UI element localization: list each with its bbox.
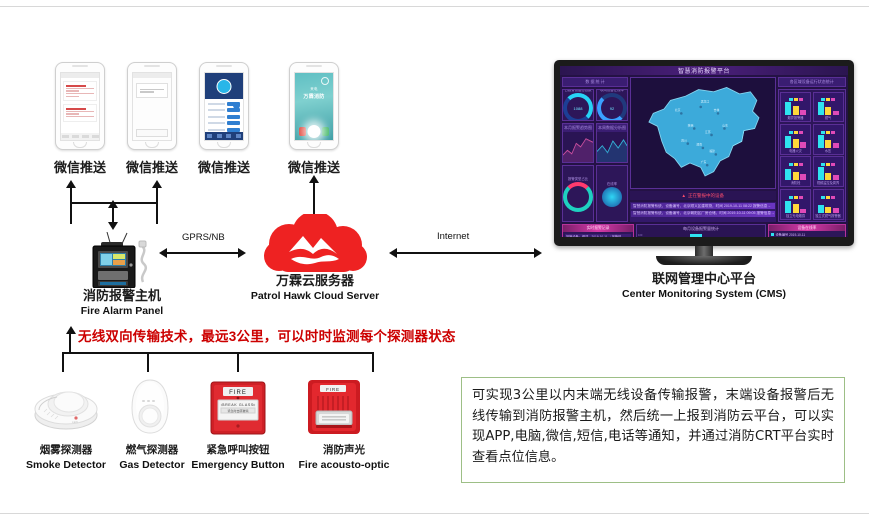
connector-banner-vertical: [69, 334, 71, 352]
region-cell: 视频监控及周界: [813, 156, 844, 187]
device-bracket-drop-4: [372, 352, 374, 372]
arrowhead-left-internet: [389, 248, 397, 258]
cms-name-en: Center Monitoring System (CMS): [604, 288, 804, 300]
gauge-card-1: 日报警设备总台数 1088: [562, 89, 594, 121]
cms-name-cn: 联网管理中心平台: [604, 268, 804, 287]
gauge2-label: 联网设备在线率: [597, 89, 627, 92]
top-divider: [0, 6, 869, 7]
alarm-message-list: 智慧消防报警系统，设备编号，北京顺义区建筑物，时间 2019-10-11 08:…: [630, 202, 776, 222]
svg-text:北京: 北京: [675, 109, 681, 113]
dashboard-title: 智慧消防报警平台: [560, 66, 848, 75]
phone-mockup-1: [55, 62, 105, 150]
spark2-label: 本周数据分析图: [597, 124, 627, 132]
svg-text:紧急时击碎玻璃: 紧急时击碎玻璃: [227, 408, 248, 413]
donut-ring: [563, 182, 593, 212]
phone-home-button: [73, 142, 87, 148]
svg-text:陕西: 陕西: [688, 124, 694, 128]
map-alarm-banner: ▲ 正在警报中的设备: [630, 191, 776, 200]
spark1-label: 本月报警趋势图: [563, 124, 593, 132]
spark-card-1: 本月报警趋势图: [562, 123, 594, 163]
bottom-right-header: 设备在线率: [769, 225, 845, 231]
description-box: 可实现3公里以内末端无线设备传输报警，末端设备报警后无线传输到消防报警主机，然后…: [461, 377, 845, 483]
device-name-en: Fire acousto-optic: [288, 459, 400, 471]
fire-alarm-panel-graphic: [87, 232, 155, 293]
slide-to-answer-handle: [308, 125, 321, 138]
bottom-left-header: 实时报警记录: [563, 225, 633, 232]
arrowhead-to-phone2: [152, 180, 162, 188]
svg-text:广东: 广东: [701, 160, 707, 164]
svg-text:黑龙江: 黑龙江: [701, 100, 710, 104]
device-row: 设备编号 2019-10-11: [771, 232, 843, 236]
svg-text:湖南: 湖南: [696, 143, 702, 147]
region-cell: 独立式燃气报警器: [813, 189, 844, 220]
fire-sounder-caption: 消防声光 Fire acousto-optic: [288, 442, 400, 471]
arrowhead-up-panel: [108, 200, 118, 208]
arrowhead-banner-to-panel: [66, 326, 76, 334]
panel-name-cn: 消防报警主机: [52, 285, 192, 304]
svg-text:福建: 福建: [709, 150, 715, 154]
device-bracket: [62, 352, 374, 354]
circle-label: 在线率: [602, 181, 622, 186]
fire-label: FIRE: [229, 390, 247, 396]
phone-screen-incoming-call: 来电 万霖消防: [294, 72, 334, 141]
link-label-gprs: GPRS/NB: [182, 232, 225, 243]
region-cell: 电器火灾: [780, 124, 811, 155]
alarm-row: 报警设备：烟感，2019-10-11 ｜报警型: [565, 234, 631, 237]
region-cell: 燃气: [813, 92, 844, 123]
region-cell: 独立光电烟感: [780, 189, 811, 220]
right-panel-header: 各区域设备运行状态统计: [779, 78, 845, 86]
phone-mockup-4: 来电 万霖消防: [289, 62, 339, 150]
svg-text:FIRE: FIRE: [326, 387, 340, 392]
arrowhead-left-gprs: [159, 248, 167, 258]
wireless-banner-text: 无线双向传输技术，最远3公里，可以时时监测每个探测器状态: [78, 325, 456, 345]
monthly-bar-chart-panel: 每月设备报警量统计 100 80 60 40 20 0: [636, 224, 766, 237]
left-panel-header: 数 据 统 计: [563, 78, 627, 86]
bar: [690, 234, 702, 237]
monthly-bar-chart: 100 80 60 40 20 0: [637, 233, 765, 237]
connector-cloud-cms: [396, 252, 538, 254]
china-map-panel: 北京黑龙江 吉林陕西 江苏山东 湖南四川 福建广东: [630, 77, 776, 189]
phone-speaker: [144, 65, 160, 67]
arrowhead-right-internet: [534, 248, 542, 258]
svg-text:吉林: 吉林: [714, 109, 720, 113]
accept-call-button: [322, 127, 329, 136]
fire-sounder-graphic: FIRE: [306, 378, 362, 441]
svg-text:山东: 山东: [722, 124, 728, 128]
svg-text:LED: LED: [72, 420, 79, 424]
phone-screen-wechat-chat: [132, 72, 172, 141]
arrowhead-down-panel: [108, 222, 118, 230]
donut-card: 报警类型占比: [562, 165, 594, 222]
gauge1-ring: 1088: [563, 93, 593, 121]
phone-4-caption: 微信推送: [264, 157, 364, 176]
spark-card-2: 本周数据分析图: [596, 123, 628, 163]
link-label-internet: Internet: [437, 231, 469, 242]
connector-phone2-vertical: [156, 188, 158, 224]
gauge1-value: 1088: [574, 106, 583, 111]
cms-monitor: 智慧消防报警平台 数 据 统 计 日报警设备总台数 1088: [554, 60, 854, 246]
device-name-cn: 紧急呼叫按钮: [186, 442, 290, 457]
region-cell: 水压: [813, 124, 844, 155]
circle-card: 在线率: [596, 165, 628, 222]
phone-home-button: [307, 142, 321, 148]
device-online-panel: 设备在线率 设备编号 2019-10-11 设备编号 2019-10-11 设备…: [768, 224, 846, 237]
phone-speaker: [72, 65, 88, 67]
donut-label: 报警类型占比: [563, 176, 593, 181]
device-name-en: Emergency Button: [186, 459, 290, 471]
smoke-detector-caption: 烟雾探测器 Smoke Detector: [18, 442, 114, 471]
panel-name-en: Fire Alarm Panel: [52, 305, 192, 317]
phone-screen-app: [204, 72, 244, 141]
cloud-name-cn: 万霖云服务器: [240, 270, 390, 289]
realtime-alarm-panel: 实时报警记录 报警设备：烟感，2019-10-11 ｜报警型 报警设备：燃气，2…: [562, 224, 634, 237]
phone-mockup-3: [199, 62, 249, 150]
cloud-caption: 万霖云服务器 Patrol Hawk Cloud Server: [240, 270, 390, 302]
decline-call-button: [299, 127, 306, 136]
device-name-cn: 消防声光: [288, 442, 400, 457]
gauge2-value: 92: [610, 106, 614, 111]
alarm-message: 智慧消防报警系统，设备编号，北京朝阳区厂房仓储，时间 2019-10-11 09…: [631, 211, 775, 217]
chart-y-axis: 100 80 60 40 20 0: [638, 235, 644, 237]
phone-3-caption: 微信推送: [174, 157, 274, 176]
device-name-en: Smoke Detector: [18, 459, 114, 471]
gauge-card-2: 联网设备在线率 92: [596, 89, 628, 121]
smoke-detector-graphic: LED: [32, 382, 100, 437]
call-label: 来电: [310, 87, 318, 91]
arrowhead-right-gprs: [238, 248, 246, 258]
phone-speaker: [216, 65, 232, 67]
gauge2-ring: 92: [597, 93, 627, 121]
warning-icon: ▲: [682, 193, 686, 198]
device-bracket-drop-2: [147, 352, 149, 372]
phone-speaker: [306, 65, 322, 67]
description-text: 可实现3公里以内末端无线设备传输报警，末端设备报警后无线传输到消防报警主机，然后…: [472, 386, 834, 468]
svg-text:BREAK GLASS: BREAK GLASS: [222, 403, 254, 407]
svg-text:四川: 四川: [681, 139, 687, 143]
phone-screen-wechat-list: [60, 72, 100, 141]
alarm-message: 智慧消防报警系统，设备编号，北京顺义区建筑物，时间 2019-10-11 08:…: [631, 203, 775, 209]
arrowhead-up-phone4: [309, 175, 319, 183]
panel-caption: 消防报警主机 Fire Alarm Panel: [52, 285, 192, 317]
arrowhead-to-phone1: [66, 180, 76, 188]
region-cell: 消防栓: [780, 156, 811, 187]
gauge1-label: 日报警设备总台数: [563, 89, 593, 92]
gas-detector-graphic: [128, 378, 172, 441]
region-cell: 烟雾报警器: [780, 92, 811, 123]
cloud-name-en: Patrol Hawk Cloud Server: [240, 290, 390, 302]
circle-gauge: [602, 187, 622, 207]
bottom-chart-title: 每月设备报警量统计: [637, 225, 765, 233]
svg-text:江苏: 江苏: [705, 130, 711, 134]
call-number: 万霖消防: [295, 93, 333, 100]
monitor-stand: [656, 256, 752, 265]
connector-panel-cloud: [166, 252, 244, 254]
phone-home-button: [145, 142, 159, 148]
device-bracket-drop-3: [237, 352, 239, 372]
phone-home-button: [217, 142, 231, 148]
emergency-button-graphic: FIRE BREAK GLASS 紧急时击碎玻璃: [209, 380, 267, 441]
phone-mockup-2: [127, 62, 177, 150]
diagram-canvas: 微信推送 微信推送: [0, 0, 869, 524]
emergency-button-caption: 紧急呼叫按钮 Emergency Button: [186, 442, 290, 471]
cms-dashboard: 智慧消防报警平台 数 据 统 计 日报警设备总台数 1088: [560, 66, 848, 237]
bottom-divider: [0, 513, 869, 514]
device-bracket-drop-1: [62, 352, 64, 372]
device-name-cn: 烟雾探测器: [18, 442, 114, 457]
region-status-grid: 烟雾报警器 燃气 电器火灾: [778, 89, 846, 222]
connector-phone1-vertical: [70, 188, 72, 224]
cms-caption: 联网管理中心平台 Center Monitoring System (CMS): [604, 268, 804, 300]
